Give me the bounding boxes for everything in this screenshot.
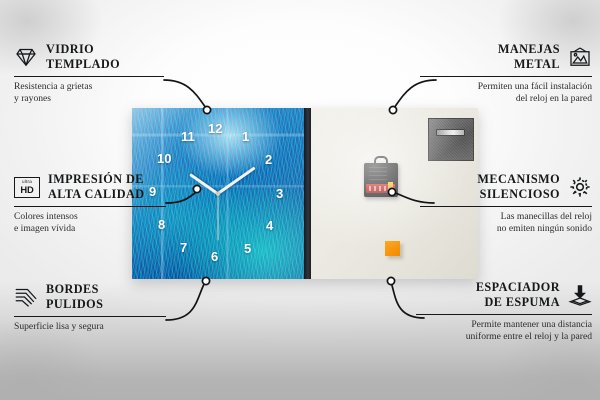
callout-title: MANEJAS METAL xyxy=(498,42,560,73)
callout-header: BORDES PULIDOS xyxy=(14,282,166,313)
callout-subtitle: Superficie lisa y segura xyxy=(14,321,166,333)
callout-bordes-pulidos: BORDES PULIDOS Superficie lisa y segura xyxy=(14,282,166,333)
callout-title: MECANISMO SILENCIOSO xyxy=(477,172,560,203)
callout-subtitle: Permite mantener una distancia uniforme … xyxy=(416,319,592,344)
clock-numeral-3: 3 xyxy=(276,187,283,200)
callout-header: MECANISMO SILENCIOSO xyxy=(420,172,592,203)
clock-mechanism xyxy=(364,163,398,197)
clock-numeral-10: 10 xyxy=(157,152,171,165)
clock-numeral-4: 4 xyxy=(266,219,273,232)
callout-subtitle: Permiten una fácil instalación del reloj… xyxy=(420,81,592,106)
clock-center-cap xyxy=(216,192,220,196)
callout-header: ultra HD IMPRESIÓN DE ALTA CALIDAD xyxy=(14,172,166,203)
clock-numeral-6: 6 xyxy=(211,250,218,263)
clock-numeral-12: 12 xyxy=(208,122,222,135)
polished-edges-icon xyxy=(14,285,38,309)
callout-rule xyxy=(14,76,164,77)
callout-manejas-metal: MANEJAS METAL Permiten una fácil instala… xyxy=(420,42,592,106)
callout-title: IMPRESIÓN DE ALTA CALIDAD xyxy=(48,172,145,203)
callout-header: ESPACIADOR DE ESPUMA xyxy=(416,280,592,311)
clock-numeral-11: 11 xyxy=(181,130,195,143)
callout-subtitle: Las manecillas del reloj no emiten ningú… xyxy=(420,211,592,236)
diamond-icon xyxy=(14,45,38,69)
callout-rule xyxy=(416,314,592,315)
arrow-down-layers-icon xyxy=(568,283,592,307)
callout-subtitle: Colores intensos e imagen vívida xyxy=(14,211,166,236)
callout-mecanismo-silencioso: MECANISMO SILENCIOSO Las manecillas del … xyxy=(420,172,592,236)
metal-hanger-plate xyxy=(428,118,474,161)
callout-header: VIDRIO TEMPLADO xyxy=(14,42,164,73)
hanger-slot xyxy=(436,129,465,136)
callout-rule xyxy=(420,76,592,77)
callout-title: VIDRIO TEMPLADO xyxy=(46,42,120,73)
clock-numeral-1: 1 xyxy=(242,130,249,143)
wall-frame-icon xyxy=(568,45,592,69)
ultra-hd-icon-large-text: HD xyxy=(20,185,33,194)
infographic-canvas: 12 1 2 3 4 5 6 7 8 9 10 11 xyxy=(0,0,600,400)
mechanism-hanging-loop xyxy=(374,156,388,165)
clock-second-hand xyxy=(218,194,219,241)
clock-numeral-2: 2 xyxy=(265,153,272,166)
clock-numeral-7: 7 xyxy=(180,241,187,254)
callout-rule xyxy=(420,206,592,207)
clock-numeral-5: 5 xyxy=(244,242,251,255)
callout-vidrio-templado: VIDRIO TEMPLADO Resistencia a grietas y … xyxy=(14,42,164,106)
ultra-hd-icon: ultra HD xyxy=(14,177,40,198)
battery xyxy=(366,184,395,193)
callout-title: BORDES PULIDOS xyxy=(46,282,103,313)
foam-spacer xyxy=(385,241,400,256)
callout-espaciador-espuma: ESPACIADOR DE ESPUMA Permite mantener un… xyxy=(416,280,592,344)
callout-title: ESPACIADOR DE ESPUMA xyxy=(476,280,560,311)
clock-side-edge xyxy=(304,108,311,279)
callout-rule xyxy=(14,206,166,207)
callout-impresion-alta-calidad: ultra HD IMPRESIÓN DE ALTA CALIDAD Color… xyxy=(14,172,166,236)
callout-subtitle: Resistencia a grietas y rayones xyxy=(14,81,164,106)
mechanism-detail xyxy=(369,167,387,181)
gear-icon xyxy=(568,175,592,199)
callout-header: MANEJAS METAL xyxy=(420,42,592,73)
callout-rule xyxy=(14,316,166,317)
